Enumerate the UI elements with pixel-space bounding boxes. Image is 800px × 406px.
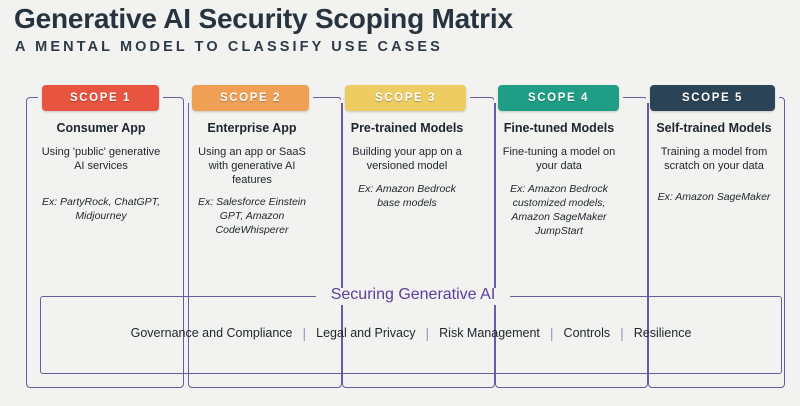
scope-name-1: Consumer App [38, 120, 164, 136]
scope-name-4: Fine-tuned Models [500, 120, 618, 136]
scope-badge-label-5: SCOPE 5 [682, 92, 743, 104]
scope-badge-3[interactable]: SCOPE 3 [345, 85, 466, 111]
scope-example-1: Ex: PartyRock, ChatGPT, Midjourney [38, 195, 164, 223]
diagram-canvas: Generative AI Security Scoping Matrix A … [0, 0, 800, 406]
scope-example-5: Ex: Amazon SageMaker [652, 190, 776, 204]
scope-description-2: Using an app or SaaS with generative AI … [196, 145, 308, 187]
scope-body-2: Enterprise AppUsing an app or SaaS with … [196, 120, 308, 187]
scope-example-4: Ex: Amazon Bedrock customized models, Am… [500, 182, 618, 238]
securing-generative-ai-title: Securing Generative AI [300, 284, 526, 306]
security-pillar-2: Legal and Privacy [307, 326, 424, 340]
page-title: Generative AI Security Scoping Matrix [14, 2, 784, 36]
scope-badge-label-3: SCOPE 3 [375, 92, 436, 104]
page-subtitle: A MENTAL MODEL TO CLASSIFY USE CASES [15, 38, 785, 56]
security-pillar-4: Controls [555, 326, 620, 340]
scope-name-2: Enterprise App [196, 120, 308, 136]
scope-badge-2[interactable]: SCOPE 2 [192, 85, 309, 111]
scope-name-5: Self-trained Models [652, 120, 776, 136]
scope-description-3: Building your app on a versioned model [348, 145, 466, 173]
scope-description-1: Using 'public' generative AI services [38, 145, 164, 173]
scope-badge-1[interactable]: SCOPE 1 [42, 85, 159, 111]
scope-description-5: Training a model from scratch on your da… [652, 145, 776, 173]
scope-name-3: Pre-trained Models [348, 120, 466, 136]
scope-badge-label-1: SCOPE 1 [70, 92, 131, 104]
scope-body-5: Self-trained ModelsTraining a model from… [652, 120, 776, 173]
security-pillars-row: Governance and Compliance|Legal and Priv… [40, 326, 782, 340]
scope-badge-5[interactable]: SCOPE 5 [650, 85, 775, 111]
scope-body-3: Pre-trained ModelsBuilding your app on a… [348, 120, 466, 173]
scope-badge-label-2: SCOPE 2 [220, 92, 281, 104]
scope-example-3: Ex: Amazon Bedrock base models [348, 182, 466, 210]
security-pillar-3: Risk Management [430, 326, 549, 340]
scope-badge-label-4: SCOPE 4 [528, 92, 589, 104]
security-pillar-1: Governance and Compliance [122, 326, 302, 340]
scope-body-4: Fine-tuned ModelsFine-tuning a model on … [500, 120, 618, 173]
scope-example-2: Ex: Salesforce Einstein GPT, Amazon Code… [196, 195, 308, 237]
security-pillar-5: Resilience [625, 326, 701, 340]
scope-description-4: Fine-tuning a model on your data [500, 145, 618, 173]
scope-body-1: Consumer AppUsing 'public' generative AI… [38, 120, 164, 173]
scope-badge-4[interactable]: SCOPE 4 [498, 85, 619, 111]
